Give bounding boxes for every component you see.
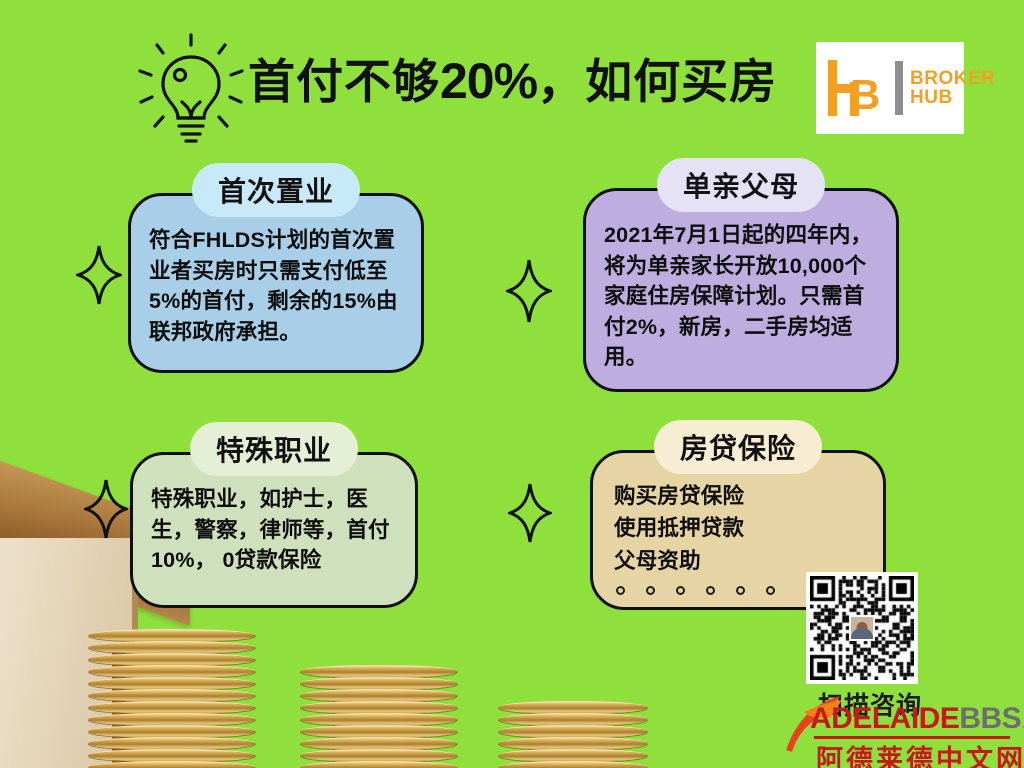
watermark-brand-gray: BBS: [959, 702, 1021, 735]
card-title: 特殊职业: [216, 429, 332, 469]
logo-monogram-icon: B: [826, 60, 886, 116]
bullet-dot: [646, 586, 655, 595]
card-text: 购买房贷保险 使用抵押贷款 父母资助: [614, 480, 864, 577]
page-title: 首付不够20%，如何买房: [248, 56, 777, 106]
card-line: 父母资助: [614, 545, 864, 577]
card-line: 使用抵押贷款: [614, 512, 864, 544]
coin: [88, 761, 256, 768]
bullet-dot: [706, 586, 715, 595]
card-first-home-buyer[interactable]: 首次置业 符合FHLDS计划的首次置业者买房时只需支付低至5%的首付，剩余的15…: [128, 163, 424, 373]
card-title-pill: 房贷保险: [654, 420, 822, 474]
logo-mark-letter: B: [850, 74, 880, 116]
coin: [498, 761, 648, 768]
coin-stack-short: [498, 702, 648, 768]
card-title-pill: 首次置业: [192, 163, 360, 217]
watermark-brand-red: ADELAIDE: [810, 702, 959, 735]
card-title: 房贷保险: [680, 427, 796, 467]
sparkle-icon: [84, 478, 128, 540]
watermark-chinese: 阿德莱德中文网: [816, 738, 1024, 768]
bullet-dots: [616, 586, 775, 595]
logo-line-1: BROKER: [910, 69, 995, 88]
coin-stack-tall: [88, 630, 256, 768]
title-prefix: 首付不够: [248, 55, 440, 108]
profile-avatar: [849, 615, 875, 641]
lightbulb-icon: [133, 33, 249, 155]
card-title-pill: 单亲父母: [657, 158, 825, 212]
watermark: 扫描咨询 ADELAIDEBBS.com 阿德莱德中文网: [778, 686, 1024, 768]
sparkle-icon: [506, 258, 552, 324]
logo-divider-bar: [895, 61, 903, 115]
qr-code[interactable]: [806, 572, 918, 684]
card-single-parent[interactable]: 单亲父母 2021年7月1日起的四年内，将为单亲家长开放10,000个家庭住房保…: [583, 158, 899, 392]
card-special-profession[interactable]: 特殊职业 特殊职业，如护士，医生，警察，律师等，首付10%， 0贷款保险: [130, 422, 418, 608]
watermark-brand: ADELAIDEBBS.com: [810, 704, 1024, 734]
coin: [300, 761, 458, 768]
card-title-pill: 特殊职业: [190, 422, 358, 476]
logo-line-2: HUB: [910, 88, 995, 107]
broker-hub-logo[interactable]: B BROKER HUB: [816, 42, 964, 134]
title-number: 20%: [440, 53, 537, 109]
sparkle-icon: [76, 244, 122, 306]
bullet-dot: [676, 586, 685, 595]
bullet-dot: [736, 586, 745, 595]
card-line: 购买房贷保险: [614, 480, 864, 512]
card-title: 单亲父母: [683, 165, 799, 205]
coin-stack-medium: [300, 666, 458, 768]
bullet-dot: [616, 586, 625, 595]
title-suffix: ，如何买房: [537, 55, 777, 108]
sparkle-icon: [508, 482, 552, 544]
bullet-dot: [766, 586, 775, 595]
card-title: 首次置业: [218, 170, 334, 210]
card-text: 2021年7月1日起的四年内，将为单亲家长开放10,000个家庭住房保障计划。只…: [604, 220, 882, 373]
card-text: 特殊职业，如护士，医生，警察，律师等，首付10%， 0贷款保险: [151, 484, 401, 576]
card-text: 符合FHLDS计划的首次置业者买房时只需支付低至5%的首付，剩余的15%由联邦政…: [149, 225, 407, 347]
poster-canvas: 首付不够20%，如何买房 B BROKER HUB 首次置业 符合FHLDS: [0, 0, 1024, 768]
header: 首付不够20%，如何买房 B BROKER HUB: [0, 0, 1024, 152]
